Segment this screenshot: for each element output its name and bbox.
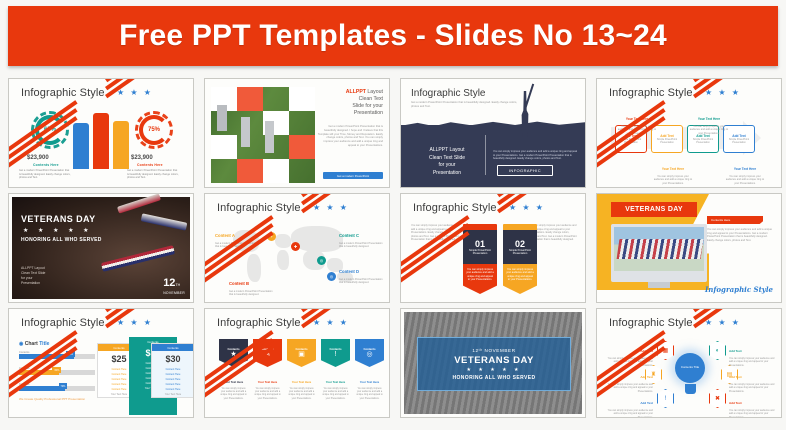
rifle-icon xyxy=(522,84,534,117)
arrow-box-2-sub: Simple PowerPoint Presentation xyxy=(652,138,682,144)
hex-caption-6-label: Add Text xyxy=(729,401,742,405)
hex-caption-2: Add Text You can simply impress your aud… xyxy=(605,365,653,393)
ribbon-02-body: You can simply impress your audience and… xyxy=(503,264,537,294)
banner-card-5[interactable]: Contents ◎ Your Text Here You can simply… xyxy=(355,339,384,401)
arrow-caption-4: Your Text Here You can simply impress yo… xyxy=(725,157,765,185)
slide5-stars: ★ ★ ★ ★ ★ xyxy=(23,227,93,234)
slide3-divider xyxy=(485,135,486,175)
arrow-caption-3-title: Your Text Here xyxy=(662,167,684,171)
hex-caption-2-label: Add Text xyxy=(640,375,653,379)
bar-row-2-tag: 60% xyxy=(52,367,61,373)
gauge-65: 65% xyxy=(31,111,69,149)
ribbon-02[interactable]: 02 Simple PowerPoint Presentation You ca… xyxy=(503,224,537,294)
hex-caption-6: Add Text You can simply impress your aud… xyxy=(729,391,777,417)
slide5-date: 12TH NOVEMBER xyxy=(163,273,185,295)
slide-thumbnail-5[interactable]: VETERANS DAY ★ ★ ★ ★ ★ HONORING ALL WHO … xyxy=(8,193,194,303)
slide-thumbnail-12[interactable]: Infographic Style ★ ★ ★ Contents Title ▦… xyxy=(596,308,782,418)
soldier-silhouettes xyxy=(73,111,135,169)
hex-caption-6-text: You can simply impress your audience and… xyxy=(729,409,777,417)
bar-row-2: Contents 60% xyxy=(19,367,95,375)
arrow-caption-1-title: Your Text Here xyxy=(626,117,648,121)
slide1-body-right: Get a modern PowerPoint Presentation tha… xyxy=(127,169,179,180)
gauge-75-value: 75% xyxy=(135,111,173,149)
arrow-box-4-sub: Simple PowerPoint Presentation xyxy=(724,138,754,144)
slide7-title: Infographic Style xyxy=(413,202,497,214)
map-pin-a[interactable]: + xyxy=(267,232,276,241)
slide11-subtitle: HONORING ALL WHO SERVED xyxy=(452,375,535,381)
map-content-c-text: Get a modern PowerPoint Presentation tha… xyxy=(339,242,385,249)
slide5-block-l4: Presentation xyxy=(21,281,40,285)
map-content-a: Content A Get a modern PowerPoint Presen… xyxy=(215,224,261,249)
slide3-block-l4: Presentation xyxy=(433,170,461,176)
map-content-b-text: Get a modern PowerPoint Presentation tha… xyxy=(229,290,275,297)
map-content-a-text: Get a modern PowerPoint Presentation tha… xyxy=(215,242,261,249)
map-pin-d[interactable]: ◎ xyxy=(327,272,336,281)
monitor-screen xyxy=(614,227,704,271)
slide3-body: You can simply impress your audience and… xyxy=(493,150,577,161)
slide2-cta-button[interactable]: Get a modern PowerPoint xyxy=(323,172,383,179)
slide3-infographic-badge[interactable]: INFOGRAPHIC xyxy=(497,165,553,176)
bar-row-1-tag: 80% xyxy=(66,351,75,357)
slide1-title: Infographic Style xyxy=(21,87,105,99)
monitor-mockup xyxy=(611,224,707,282)
arrow-caption-1: Your Text Here You can simply impress yo… xyxy=(617,107,657,135)
slide-thumbnail-8[interactable]: VETERANS DAY Contents Here You can simpl… xyxy=(596,193,782,303)
map-pin-c[interactable]: ◎ xyxy=(317,256,326,265)
arrow-caption-4-text: You can simply impress your audience and… xyxy=(725,175,765,185)
ribbon-01-number: 01 xyxy=(475,239,485,249)
banner-1-text: You can simply impress your audience and… xyxy=(219,388,248,401)
map-content-a-label: Content A xyxy=(215,233,235,238)
slide2-headline: ALLPPT Layout Clean Text Slide for your … xyxy=(317,89,383,117)
close-icon[interactable]: ✖ xyxy=(709,389,726,408)
pricing-column-3[interactable]: Contents $30 Content Here Content Here C… xyxy=(151,343,193,398)
bar-row-3: Contents 70% xyxy=(19,383,95,391)
slide3-block: ALLPPT Layout Clean Text Slide for your … xyxy=(415,147,479,177)
bar-row-1: Contents 80% xyxy=(19,351,95,359)
slide-thumbnail-7[interactable]: Infographic Style ★ ★ ★ You can simply i… xyxy=(400,193,586,303)
slide-thumbnail-4[interactable]: Infographic Style ★ ★ ★ Add Text Simple … xyxy=(596,78,782,188)
pricing-3-footer: Your Text Here xyxy=(152,392,193,397)
banner-5-text: You can simply impress your audience and… xyxy=(355,388,384,401)
alert-icon: ! xyxy=(335,351,337,359)
slide3-block-l1: ALLPPT Layout xyxy=(430,147,465,153)
slide9-stars: ★ ★ ★ xyxy=(117,318,153,327)
hex-caption-3: Add Text You can simply impress your aud… xyxy=(605,391,653,417)
slide2-headline-suffix: Layout xyxy=(366,89,383,95)
ribbon-01-caption: Simple PowerPoint Presentation xyxy=(463,249,497,256)
gauge-75-caption: Contents Here xyxy=(137,163,163,167)
page-root: Free PPT Templates - Slides No 13~24 Inf… xyxy=(0,0,786,430)
slide5-day-suffix: TH xyxy=(175,283,180,287)
bulb-center-label: Contents Title xyxy=(675,353,705,383)
map-content-d: Content D Get a modern PowerPoint Presen… xyxy=(339,260,385,285)
ribbon-02-number: 02 xyxy=(515,239,525,249)
banner-2-title: Your Text Here xyxy=(258,380,277,384)
banner-card-2[interactable]: Contents ✎ Your Text Here You can simply… xyxy=(253,339,282,401)
target-icon: ◎ xyxy=(366,351,372,359)
banner-4-title: Your Text Here xyxy=(326,380,345,384)
slide6-title: Infographic Style xyxy=(217,202,301,214)
map-content-b: Content B Get a modern PowerPoint Presen… xyxy=(229,272,275,297)
slide-thumbnail-10[interactable]: Infographic Style ★ ★ ★ Contents ★ Your … xyxy=(204,308,390,418)
slide5-subtitle: HONORING ALL WHO SERVED xyxy=(21,237,102,243)
slide2-headline-l3: Presentation xyxy=(354,110,383,116)
bar-row-3-tag: 70% xyxy=(59,383,68,389)
slide5-month: NOVEMBER xyxy=(163,291,185,295)
arrow-caption-2: Your Text Here You can simply impress yo… xyxy=(689,107,729,135)
chart-icon[interactable]: ◐ xyxy=(709,341,726,360)
gauge-75: 75% xyxy=(135,111,173,149)
banner-3-text: You can simply impress your audience and… xyxy=(287,388,316,401)
arrow-box-3-sub: Simple PowerPoint Presentation xyxy=(688,138,718,144)
slide5-block-l3: for your xyxy=(21,276,33,280)
hex-caption-4: Add Text You can simply impress your aud… xyxy=(729,339,777,367)
chart-title: ◉ Chart Title xyxy=(19,341,49,347)
slide5-title: VETERANS DAY xyxy=(21,214,95,224)
banner-1-title: Your Text Here xyxy=(224,380,243,384)
arrow-caption-2-title: Your Text Here xyxy=(698,117,720,121)
hex-caption-5: Add Text You can simply impress your aud… xyxy=(729,365,777,393)
arrow-caption-4-title: Your Text Here xyxy=(734,167,756,171)
ribbon-02-caption: Simple PowerPoint Presentation xyxy=(503,249,537,256)
slide2-headline-l2: Slide for your xyxy=(352,103,383,109)
map-content-c-label: Content C xyxy=(339,233,359,238)
slide8-script-label: Infographic Style xyxy=(705,285,773,294)
banner-4-text: You can simply impress your audience and… xyxy=(321,388,350,401)
slide4-stars: ★ ★ ★ xyxy=(705,88,741,97)
gauge-65-caption: Contents Here xyxy=(33,163,59,167)
slide-thumbnail-11[interactable]: 12ᵗʰ NOVEMBER VETERANS DAY ★ ★ ★ ★ ★ HON… xyxy=(400,308,586,418)
banner-3-title: Your Text Here xyxy=(292,380,311,384)
slide8-content-tab: Contents Here xyxy=(707,216,763,224)
gauge-65-value: 65% xyxy=(31,111,69,149)
flag-mosaic-image xyxy=(211,87,315,183)
arrow-box-1-sub: Simple PowerPoint Presentation xyxy=(616,138,646,144)
pencil-icon: ✎ xyxy=(265,351,271,359)
slide-thumbnail-6[interactable]: Infographic Style ★ ★ ★ + ✚ ◎ ◎ Content … xyxy=(204,193,390,303)
slide3-block-l2: Clean Text Slide xyxy=(429,155,465,161)
slide11-overlay-panel: 12ᵗʰ NOVEMBER VETERANS DAY ★ ★ ★ ★ ★ HON… xyxy=(417,337,571,391)
slide1-body-left: Get a modern PowerPoint Presentation tha… xyxy=(19,169,71,180)
slide5-block-l2: Clean Text Slide xyxy=(21,271,45,275)
slide11-title: VETERANS DAY xyxy=(454,355,534,366)
slide8-banner: VETERANS DAY xyxy=(611,202,697,217)
slide1-stars: ★ ★ ★ xyxy=(117,88,153,97)
arrow-caption-3-text: You can simply impress your audience and… xyxy=(653,175,693,185)
slide7-left-text: You can simply impress your audience and… xyxy=(411,224,459,242)
page-title: Free PPT Templates - Slides No 13~24 xyxy=(119,19,667,53)
slide9-note: We Create Quality Professional PPT Prese… xyxy=(19,397,89,401)
map-content-b-label: Content B xyxy=(229,281,249,286)
hex-caption-1-label: Add Text xyxy=(640,349,653,353)
hex-caption-3-label: Add Text xyxy=(640,401,653,405)
hex-caption-3-text: You can simply impress your audience and… xyxy=(605,409,653,417)
layout-icon: ▣ xyxy=(298,351,305,359)
chart-title-b: Title xyxy=(39,341,49,347)
slide11-stars: ★ ★ ★ ★ ★ xyxy=(467,367,522,373)
slide-grid: Infographic Style ★ ★ ★ 65% $23,900 Cont… xyxy=(8,78,780,426)
grid-icon[interactable]: ▦ xyxy=(657,341,674,360)
page-header: Free PPT Templates - Slides No 13~24 xyxy=(8,6,778,66)
slide3-block-l3: for your xyxy=(439,162,456,168)
chart-title-a: Chart xyxy=(25,341,39,347)
star-icon: ★ xyxy=(230,351,236,359)
banner-card-3[interactable]: Contents ▣ Your Text Here You can simply… xyxy=(287,339,316,401)
slide5-block-l1: ALLPPT Layout xyxy=(21,266,45,270)
banner-5-title: Your Text Here xyxy=(360,380,379,384)
slide-thumbnail-2[interactable]: ALLPPT Layout Clean Text Slide for your … xyxy=(204,78,390,188)
gauge-65-amount: $23,900 xyxy=(27,155,49,161)
banner-card-1[interactable]: Contents ★ Your Text Here You can simply… xyxy=(219,339,248,401)
slide6-stars: ★ ★ ★ xyxy=(313,203,349,212)
pricing-3-header: Contents xyxy=(152,344,193,351)
map-content-d-label: Content D xyxy=(339,269,359,274)
slide5-day: 12 xyxy=(163,277,175,289)
slide7-stars: ★ ★ ★ xyxy=(509,203,545,212)
map-content-d-text: Get a modern PowerPoint Presentation tha… xyxy=(339,278,385,285)
arrow-caption-3: Your Text Here You can simply impress yo… xyxy=(653,157,693,185)
ribbon-01[interactable]: 01 Simple PowerPoint Presentation You ca… xyxy=(463,224,497,294)
slide8-body: You can simply impress your audience and… xyxy=(707,228,773,242)
hex-caption-5-label: Add Text xyxy=(729,375,742,379)
slide12-title: Infographic Style xyxy=(609,317,693,329)
alert-icon[interactable]: ! xyxy=(657,389,674,408)
arrow-caption-1-text: You can simply impress your audience and… xyxy=(617,125,657,135)
slide-thumbnail-9[interactable]: Infographic Style ★ ★ ★ ◉ Chart Title Co… xyxy=(8,308,194,418)
allppt-brand: ALLPPT xyxy=(346,89,366,95)
slide5-block: ALLPPT Layout Clean Text Slide for your … xyxy=(21,266,45,286)
slide-thumbnail-1[interactable]: Infographic Style ★ ★ ★ 65% $23,900 Cont… xyxy=(8,78,194,188)
hex-caption-4-label: Add Text xyxy=(729,349,742,353)
map-pin-b[interactable]: ✚ xyxy=(291,242,300,251)
slide2-headline-l1: Clean Text xyxy=(359,96,383,102)
lightbulb-icon: Contents Title xyxy=(675,353,705,395)
pricing-3-price: $30 xyxy=(152,351,193,367)
map-content-c: Content C Get a modern PowerPoint Presen… xyxy=(339,224,385,249)
hex-caption-1: Add Text You can simply impress your aud… xyxy=(605,339,653,367)
slide4-title: Infographic Style xyxy=(609,87,693,99)
ribbon-01-body: You can simply impress your audience and… xyxy=(463,264,497,294)
slide10-stars: ★ ★ ★ xyxy=(313,318,349,327)
slide3-subtitle: Get a modern PowerPoint Presentation tha… xyxy=(411,101,521,108)
slide2-body: Get a modern PowerPoint Presentation tha… xyxy=(317,125,383,148)
banner-2-text: You can simply impress your audience and… xyxy=(253,388,282,401)
arrow-caption-2-text: You can simply impress your audience and… xyxy=(689,125,729,135)
slide9-title: Infographic Style xyxy=(21,317,105,329)
slide3-title: Infographic Style xyxy=(411,88,486,99)
slide-thumbnail-3[interactable]: Infographic Style Get a modern PowerPoin… xyxy=(400,78,586,188)
banner-card-4[interactable]: Contents ! Your Text Here You can simply… xyxy=(321,339,350,401)
slide12-stars: ★ ★ ★ xyxy=(705,318,741,327)
slide10-title: Infographic Style xyxy=(217,317,301,329)
slide11-date: 12ᵗʰ NOVEMBER xyxy=(472,348,515,353)
